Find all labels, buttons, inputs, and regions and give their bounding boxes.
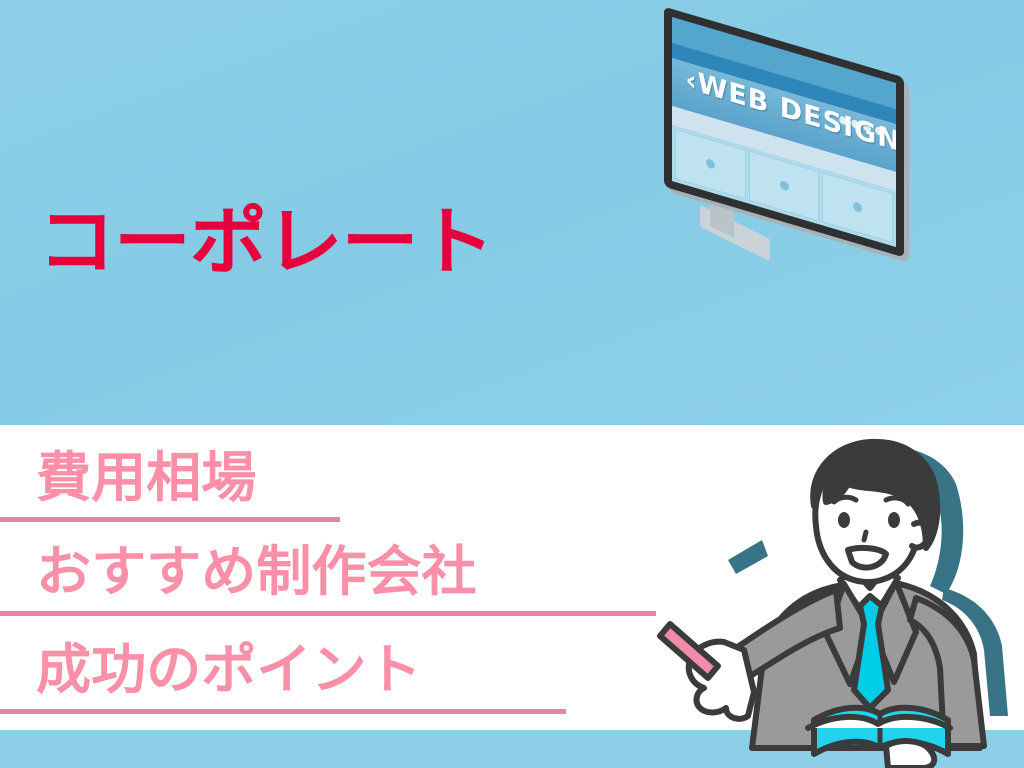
- subtitle-underline-2: [0, 611, 656, 616]
- poster-canvas: ‹WEB DESIGN›: [0, 0, 1024, 768]
- hero-section: ‹WEB DESIGN›: [0, 0, 1024, 425]
- subtitle-item-2: おすすめ制作会社: [36, 545, 477, 599]
- subtitle-item-1: 費用相場: [36, 451, 256, 505]
- subtitle-underline-1: [0, 517, 340, 522]
- page-title-line-1: コーポレート: [38, 204, 494, 280]
- subtitle-item-3: 成功のポイント: [36, 643, 422, 697]
- isometric-desk-illustration: ‹WEB DESIGN›: [524, 0, 1024, 425]
- subtitle-underline-3: [0, 709, 566, 714]
- businessman-presenter: [648, 428, 1024, 768]
- page-title: コーポレート サイト制作 完全ガイド: [38, 52, 494, 425]
